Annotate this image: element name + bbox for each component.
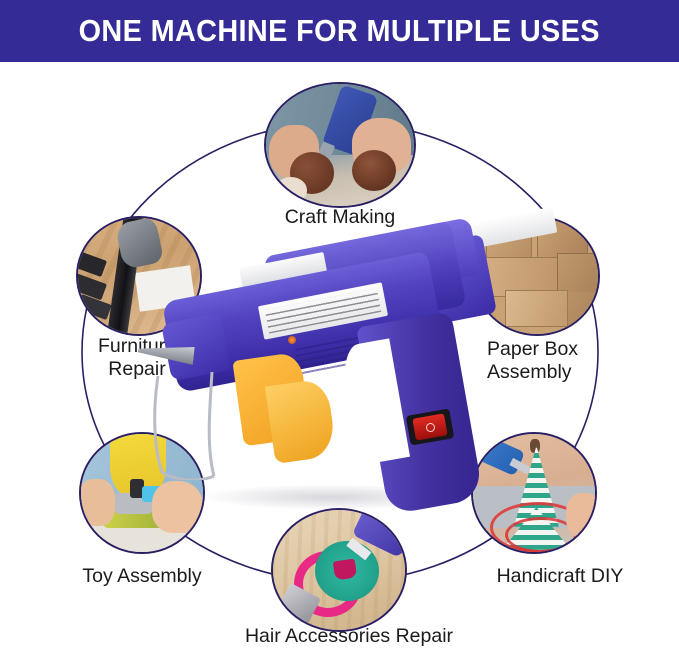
header-banner: ONE MACHINE FOR MULTIPLE USES — [0, 0, 679, 62]
gun-front-nose — [161, 313, 231, 381]
wire-stand — [148, 372, 244, 480]
power-indicator-led — [288, 336, 296, 344]
banner-title: ONE MACHINE FOR MULTIPLE USES — [79, 13, 600, 49]
thumb-hair-accessories-repair[interactable] — [271, 508, 407, 632]
hair-accessories-photo — [273, 510, 405, 630]
product-glue-gun — [120, 222, 560, 522]
craft-making-photo — [266, 84, 414, 206]
infographic-page: ONE MACHINE FOR MULTIPLE USES Craft Maki… — [0, 0, 679, 659]
label-toy-assembly: Toy Assembly — [62, 565, 222, 588]
gun-trigger-guard — [265, 378, 337, 464]
label-hair-accessories-repair: Hair Accessories Repair — [219, 625, 479, 648]
thumb-craft-making[interactable] — [264, 82, 416, 208]
label-handicraft-diy: Handicraft DIY — [470, 565, 650, 588]
